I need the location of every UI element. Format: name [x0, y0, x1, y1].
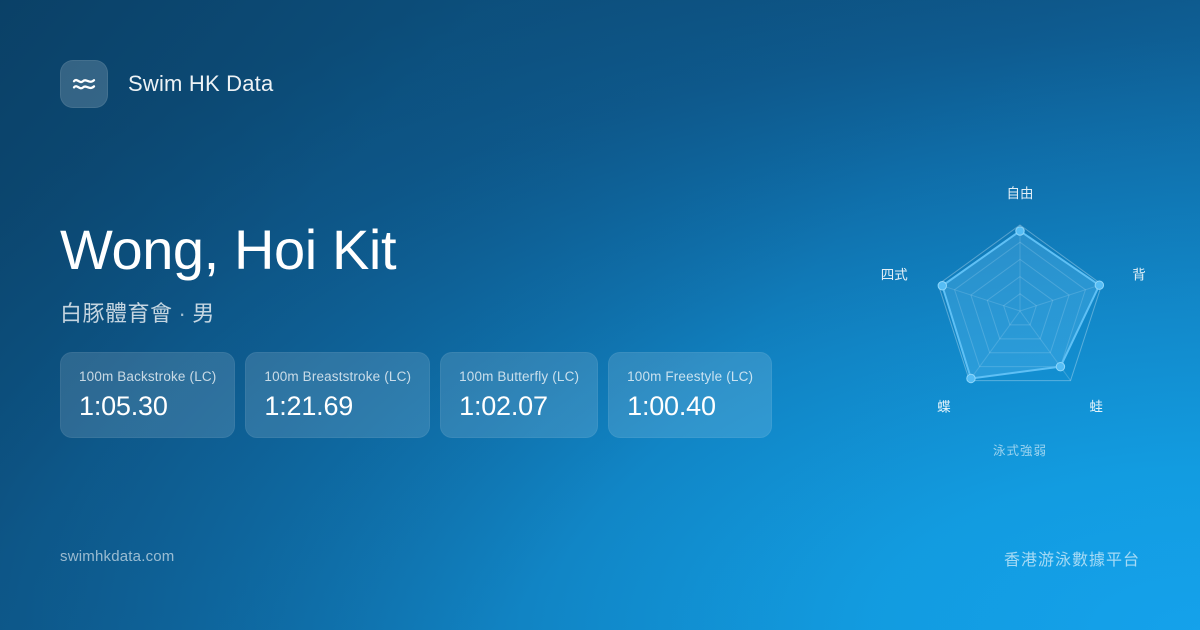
- wave-icon: [60, 60, 108, 108]
- radar-axis-label: 蛙: [1089, 399, 1103, 414]
- radar-point: [1016, 227, 1024, 235]
- footer-site-url[interactable]: swimhkdata.com: [60, 548, 175, 565]
- stat-card-course: (LC): [552, 369, 579, 384]
- stat-card-label: 100m Backstroke(LC): [79, 369, 216, 384]
- athlete-block: Wong, Hoi Kit 白豚體育會·男: [60, 220, 396, 328]
- stat-card[interactable]: 100m Backstroke(LC) 1:05.30: [60, 352, 235, 438]
- poster-canvas: Swim HK Data Wong, Hoi Kit 白豚體育會·男 100m …: [0, 0, 1200, 630]
- radar-axis-label: 四式: [881, 268, 908, 283]
- stat-card-course: (LC): [726, 369, 753, 384]
- stroke-radar-chart: 自由背蛙蝶四式 泳式強弱: [860, 165, 1180, 475]
- stat-card-label: 100m Breaststroke(LC): [264, 369, 411, 384]
- radar-axis-label: 蝶: [937, 399, 951, 414]
- stat-card[interactable]: 100m Freestyle(LC) 1:00.40: [608, 352, 772, 438]
- stat-card-list: 100m Backstroke(LC) 1:05.30 100m Breasts…: [60, 352, 772, 438]
- radar-area: [942, 231, 1099, 378]
- radar-point: [1056, 362, 1064, 370]
- stat-card-label: 100m Freestyle(LC): [627, 369, 753, 384]
- brand-name: Swim HK Data: [128, 71, 273, 97]
- meta-separator: ·: [173, 301, 193, 326]
- stat-card-time: 1:21.69: [264, 391, 411, 422]
- page-title: Wong, Hoi Kit: [60, 220, 396, 280]
- stat-card-time: 1:02.07: [459, 391, 579, 422]
- athlete-meta: 白豚體育會·男: [60, 296, 396, 328]
- radar-point: [967, 374, 975, 382]
- athlete-gender: 男: [192, 301, 215, 326]
- radar-axis-label: 背: [1132, 268, 1146, 283]
- radar-svg: 自由背蛙蝶四式: [860, 165, 1180, 445]
- athlete-club: 白豚體育會: [60, 301, 173, 326]
- stat-card-time: 1:05.30: [79, 391, 216, 422]
- stat-card-event: 100m Backstroke: [79, 369, 186, 384]
- radar-caption: 泳式強弱: [860, 440, 1180, 459]
- stat-card[interactable]: 100m Breaststroke(LC) 1:21.69: [245, 352, 430, 438]
- stat-card-event: 100m Breaststroke: [264, 369, 380, 384]
- stat-card-course: (LC): [384, 369, 411, 384]
- footer-tagline: 香港游泳數據平台: [1004, 546, 1140, 570]
- stat-card-event: 100m Freestyle: [627, 369, 722, 384]
- stat-card[interactable]: 100m Butterfly(LC) 1:02.07: [440, 352, 598, 438]
- stat-card-time: 1:00.40: [627, 391, 753, 422]
- radar-point: [938, 282, 946, 290]
- radar-point: [1095, 281, 1103, 289]
- stat-card-label: 100m Butterfly(LC): [459, 369, 579, 384]
- radar-axis-label: 自由: [1007, 186, 1034, 201]
- stat-card-course: (LC): [190, 369, 217, 384]
- stat-card-event: 100m Butterfly: [459, 369, 548, 384]
- brand-header[interactable]: Swim HK Data: [60, 60, 273, 108]
